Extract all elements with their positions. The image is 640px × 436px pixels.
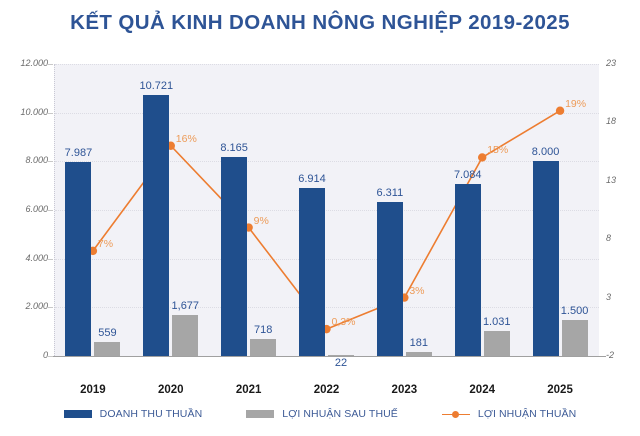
- category-axis-labels: 2019202020212022202320242025: [0, 384, 640, 402]
- chart-legend: DOANH THU THUẦN LỢI NHUẬN SAU THUẾ LỢI N…: [0, 404, 640, 424]
- legend-label-profit-after-tax: LỢI NHUẬN SAU THUẾ: [282, 408, 398, 420]
- bar-label-revenue: 8.165: [204, 142, 264, 154]
- legend-item-net-margin[interactable]: LỢI NHUẬN THUẦN: [442, 408, 576, 420]
- y-axis-left-tick-label: 4.000: [25, 253, 48, 263]
- y-axis-left-tick-label: 0: [43, 350, 48, 360]
- y-axis-left-tick-label: 2.000: [25, 301, 48, 311]
- chart-canvas: 02.0004.0006.0008.00010.00012.000-238131…: [0, 52, 640, 384]
- bar-revenue[interactable]: [377, 202, 403, 356]
- bar-profit-after-tax[interactable]: [250, 339, 276, 356]
- x-axis-category-label: 2022: [287, 384, 367, 396]
- bar-label-revenue: 8.000: [516, 146, 576, 158]
- y-axis-right-tick-label: -2: [606, 350, 614, 360]
- bar-label-profit-after-tax: 1,677: [155, 300, 215, 312]
- bar-revenue[interactable]: [533, 161, 559, 356]
- bar-label-profit-after-tax: 1.500: [545, 305, 605, 317]
- bar-profit-after-tax[interactable]: [406, 352, 432, 356]
- line-label-net-margin: 15%: [487, 144, 508, 156]
- bar-label-revenue: 6.914: [282, 173, 342, 185]
- bar-profit-after-tax[interactable]: [94, 342, 120, 356]
- bar-label-profit-after-tax: 22: [311, 357, 371, 369]
- bar-revenue[interactable]: [299, 188, 325, 356]
- x-axis-category-label: 2021: [209, 384, 289, 396]
- y-axis-left-tick-label: 6.000: [25, 204, 48, 214]
- page-title: KẾT QUẢ KINH DOANH NÔNG NGHIỆP 2019-2025: [0, 11, 640, 35]
- legend-swatch-revenue-icon: [64, 410, 92, 418]
- x-axis-category-label: 2024: [442, 384, 522, 396]
- bar-profit-after-tax[interactable]: [328, 355, 354, 356]
- y-axis-left-tick-mark: [46, 161, 53, 162]
- legend-item-profit-after-tax[interactable]: LỢI NHUẬN SAU THUẾ: [246, 408, 398, 420]
- bar-label-profit-after-tax: 559: [77, 327, 137, 339]
- legend-swatch-profit-after-tax-icon: [246, 410, 274, 418]
- x-axis-category-label: 2023: [364, 384, 444, 396]
- line-label-net-margin: 16%: [176, 133, 197, 145]
- x-axis-category-label: 2020: [131, 384, 211, 396]
- y-axis-left-tick-mark: [46, 210, 53, 211]
- line-marker-net-margin[interactable]: [556, 107, 564, 115]
- bar-label-revenue: 6.311: [360, 187, 420, 199]
- y-axis-right-tick-label: 23: [606, 58, 616, 68]
- legend-label-revenue: DOANH THU THUẦN: [100, 408, 203, 420]
- y-axis-right-tick-label: 3: [606, 292, 611, 302]
- line-label-net-margin: 19%: [565, 98, 586, 110]
- bar-label-profit-after-tax: 181: [389, 337, 449, 349]
- bar-label-profit-after-tax: 1.031: [467, 316, 527, 328]
- line-label-net-margin: 9%: [254, 215, 269, 227]
- line-marker-net-margin[interactable]: [478, 153, 486, 161]
- line-label-net-margin: 0,3%: [332, 316, 356, 328]
- y-axis-right-tick-label: 18: [606, 116, 616, 126]
- bar-revenue[interactable]: [455, 184, 481, 356]
- bar-profit-after-tax[interactable]: [562, 320, 588, 357]
- x-axis-category-label: 2025: [520, 384, 600, 396]
- y-axis-left-tick-mark: [46, 356, 53, 357]
- y-axis-left-tick-mark: [46, 259, 53, 260]
- x-axis-category-label: 2019: [53, 384, 133, 396]
- legend-label-net-margin: LỢI NHUẬN THUẦN: [478, 408, 576, 420]
- y-axis-left-tick-label: 10.000: [20, 107, 48, 117]
- legend-swatch-net-margin-icon: [442, 410, 470, 418]
- line-label-net-margin: 3%: [409, 285, 424, 297]
- bar-label-revenue: 7.084: [438, 169, 498, 181]
- bar-profit-after-tax[interactable]: [172, 315, 198, 356]
- y-axis-right-tick-label: 13: [606, 175, 616, 185]
- y-axis-left-tick-label: 12.000: [20, 58, 48, 68]
- bar-label-profit-after-tax: 718: [233, 324, 293, 336]
- y-axis-left-tick-label: 8.000: [25, 155, 48, 165]
- legend-item-revenue[interactable]: DOANH THU THUẦN: [64, 408, 203, 420]
- y-axis-left-tick-mark: [46, 113, 53, 114]
- y-axis-right-tick-label: 8: [606, 233, 611, 243]
- bar-label-revenue: 7.987: [48, 147, 108, 159]
- bar-profit-after-tax[interactable]: [484, 331, 510, 356]
- y-axis-left-tick-mark: [46, 307, 53, 308]
- line-label-net-margin: 7%: [98, 238, 113, 250]
- bar-label-revenue: 10.721: [126, 80, 186, 92]
- y-axis-left-tick-mark: [46, 64, 53, 65]
- bar-revenue[interactable]: [143, 95, 169, 356]
